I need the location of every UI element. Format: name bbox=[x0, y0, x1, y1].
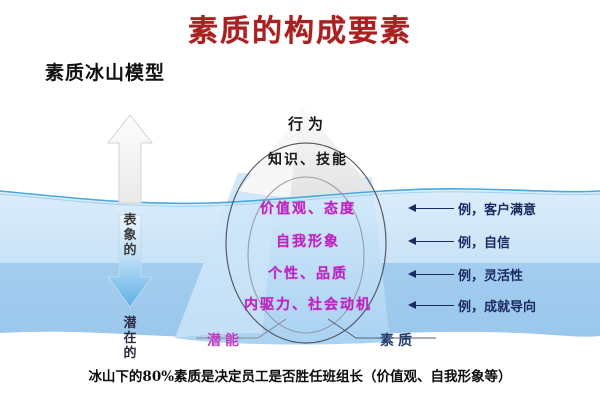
bottom-caption: 冰山下的80%素质是决定员工是否胜任班组长（价值观、自我形象等） bbox=[0, 365, 600, 385]
left-arrow-icon bbox=[408, 237, 454, 247]
iceberg-label-knowledge-skill: 知识、技能 bbox=[8, 149, 600, 169]
leader-label-competency: 素质 bbox=[380, 330, 416, 350]
leader-label-potential: 潜能 bbox=[207, 330, 243, 350]
example-callout-customer-satisfaction: 例，客户满意 bbox=[408, 199, 536, 218]
iceberg-label-behavior: 行为 bbox=[8, 113, 600, 134]
example-text: 例，自信 bbox=[458, 232, 510, 251]
down-arrow-char-2: 的 bbox=[113, 346, 147, 361]
iceberg-diagram: 表 象 的 潜 在 的 bbox=[0, 95, 600, 360]
left-arrow-icon bbox=[408, 270, 454, 280]
sub-title: 素质冰山模型 bbox=[45, 58, 165, 85]
down-arrow-char-0: 潜 bbox=[113, 316, 147, 331]
example-text: 例，客户满意 bbox=[458, 199, 536, 218]
example-text: 例，灵活性 bbox=[458, 265, 523, 284]
page-title: 素质的构成要素 bbox=[0, 6, 600, 50]
example-callout-flexibility: 例，灵活性 bbox=[408, 265, 523, 284]
example-text: 例，成就导向 bbox=[458, 296, 536, 315]
iceberg-graphic bbox=[0, 95, 600, 360]
iceberg-label-self-image: 自我形象 bbox=[8, 231, 600, 251]
example-callout-confidence: 例，自信 bbox=[408, 232, 510, 251]
left-arrow-icon bbox=[408, 204, 454, 214]
example-callout-achievement-orientation: 例，成就导向 bbox=[408, 296, 536, 315]
down-arrow-label: 潜 在 的 bbox=[113, 316, 147, 361]
slide-canvas: 素质的构成要素 素质冰山模型 bbox=[0, 0, 600, 401]
down-arrow-char-1: 在 bbox=[113, 331, 147, 346]
left-arrow-icon bbox=[408, 301, 454, 311]
